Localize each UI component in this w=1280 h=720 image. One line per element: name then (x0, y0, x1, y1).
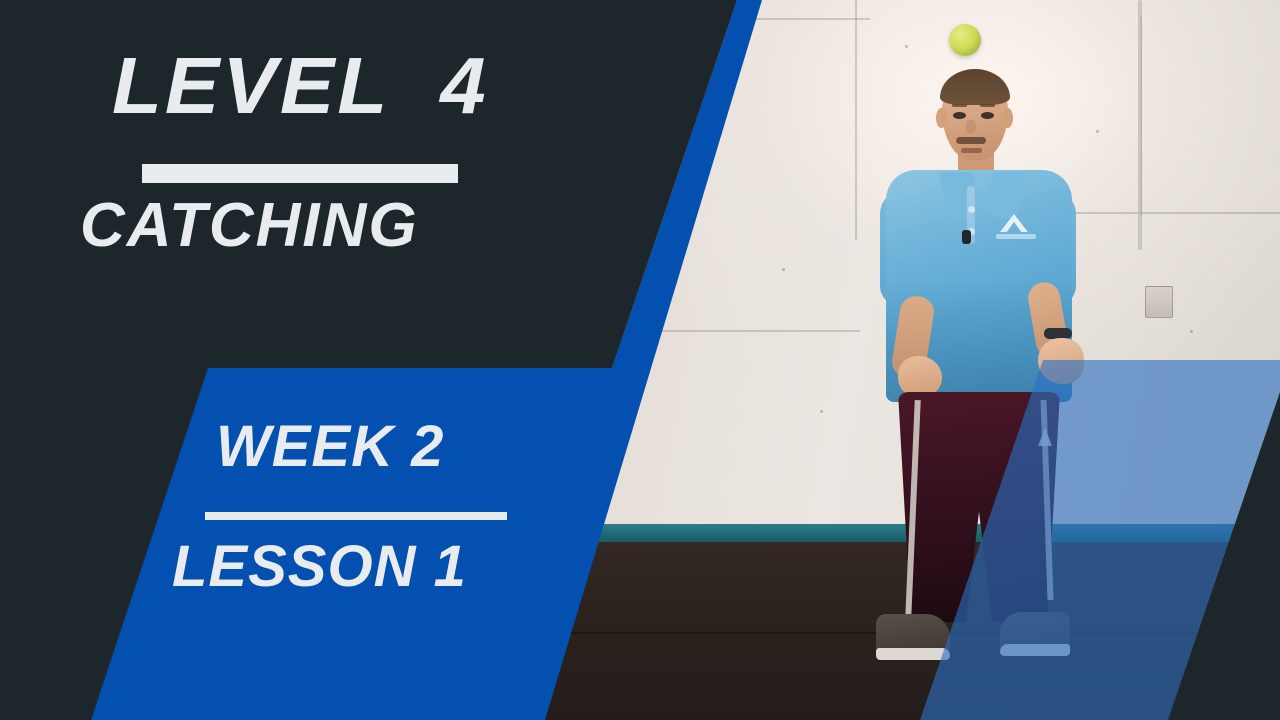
subject-heading: CATCHING (80, 195, 419, 257)
shoe-left-sole (876, 648, 950, 660)
ear-right (1002, 108, 1013, 128)
wall-speck (1190, 330, 1193, 333)
lapel-microphone (962, 230, 971, 244)
tennis-ball (949, 24, 981, 56)
wall-seam-horizontal-2 (1040, 212, 1280, 214)
shirt-logo-text (996, 234, 1036, 239)
moustache (956, 137, 986, 144)
eye-left (953, 112, 966, 119)
wall-speck (782, 268, 785, 271)
eye-right (981, 112, 994, 119)
nose (966, 120, 976, 134)
hand-left (898, 356, 942, 398)
wall-socket (1145, 286, 1173, 318)
wall-seam-vertical-1 (855, 0, 857, 240)
week-heading: WEEK 2 (216, 418, 444, 476)
wall-speck (820, 410, 823, 413)
thumbnail-canvas: LEVEL 4 CATCHING WEEK 2 LESSON 1 (0, 0, 1280, 720)
lesson-divider-rule (205, 512, 507, 520)
lesson-heading: LESSON 1 (172, 538, 467, 596)
eyebrow-right (980, 104, 995, 107)
eyebrow-left (952, 104, 967, 107)
shirt-button (968, 206, 975, 213)
ear-left (936, 108, 947, 128)
level-heading: LEVEL 4 (112, 46, 591, 126)
title-block: LEVEL 4 (112, 46, 582, 126)
wall-speck (905, 45, 908, 48)
title-divider-rule (142, 164, 458, 183)
mouth (961, 148, 982, 153)
wall-speck (1096, 130, 1099, 133)
wall-conduit-pipe (1138, 0, 1142, 250)
